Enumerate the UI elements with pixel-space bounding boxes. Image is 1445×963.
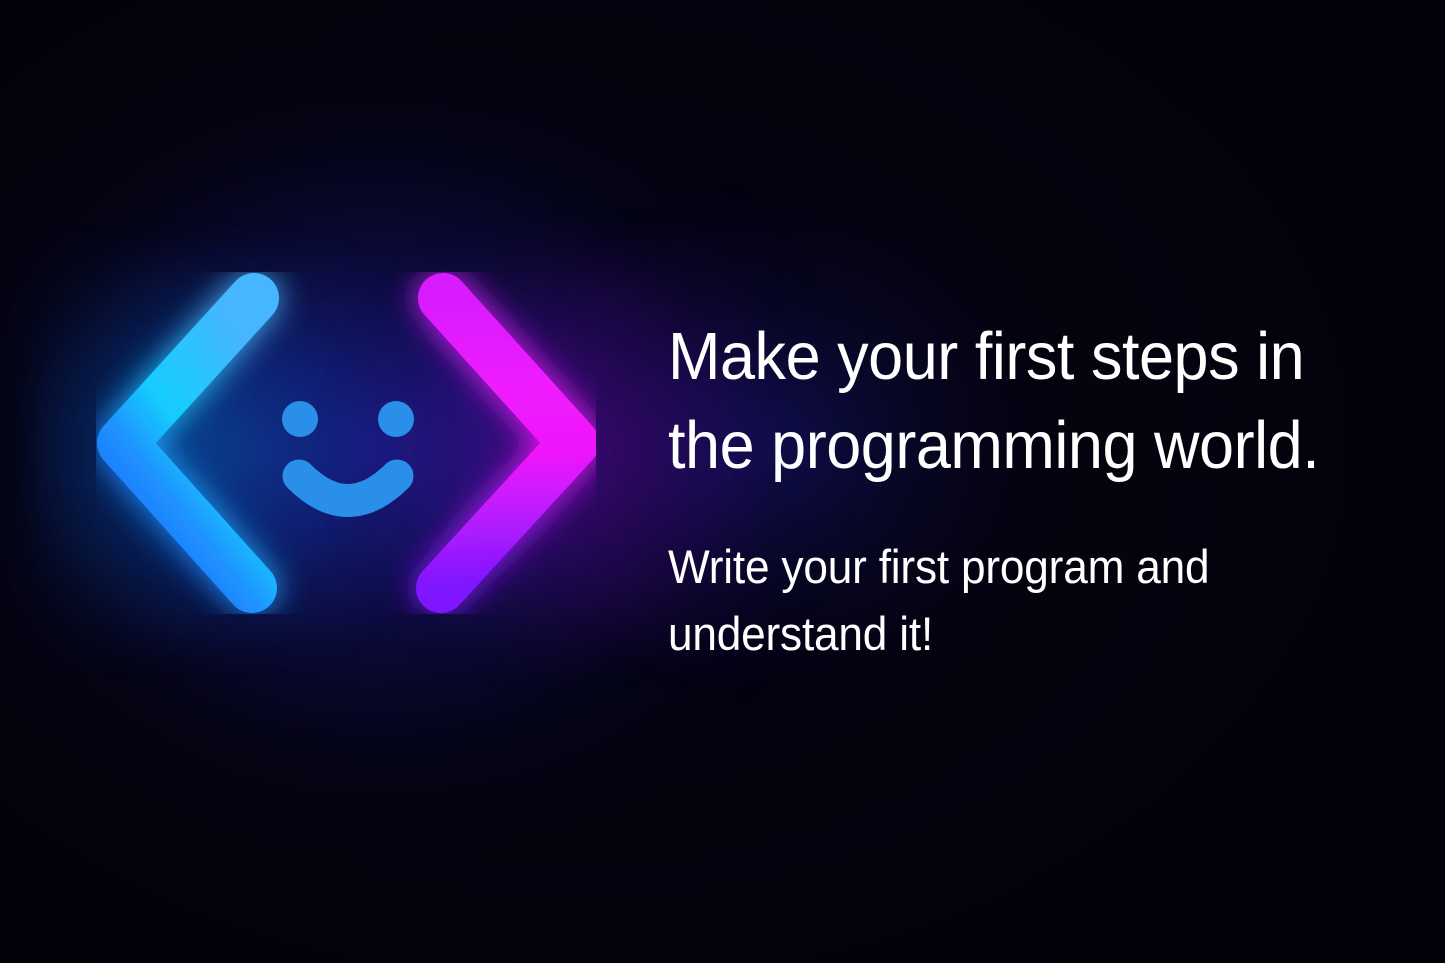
- subheadline: Write your first program and understand …: [668, 490, 1364, 667]
- headline: Make your first steps in the programming…: [668, 312, 1364, 490]
- right-eye: [378, 401, 414, 437]
- code-chevrons-smiley-logo: [96, 272, 596, 614]
- smiley-face: [282, 401, 414, 501]
- smile-mouth: [299, 476, 397, 501]
- left-angle-bracket: [122, 298, 254, 588]
- copy-block: Make your first steps in the programming…: [668, 312, 1408, 667]
- banner-canvas: Make your first steps in the programming…: [0, 0, 1445, 963]
- right-angle-bracket: [441, 298, 574, 588]
- left-eye: [282, 401, 318, 437]
